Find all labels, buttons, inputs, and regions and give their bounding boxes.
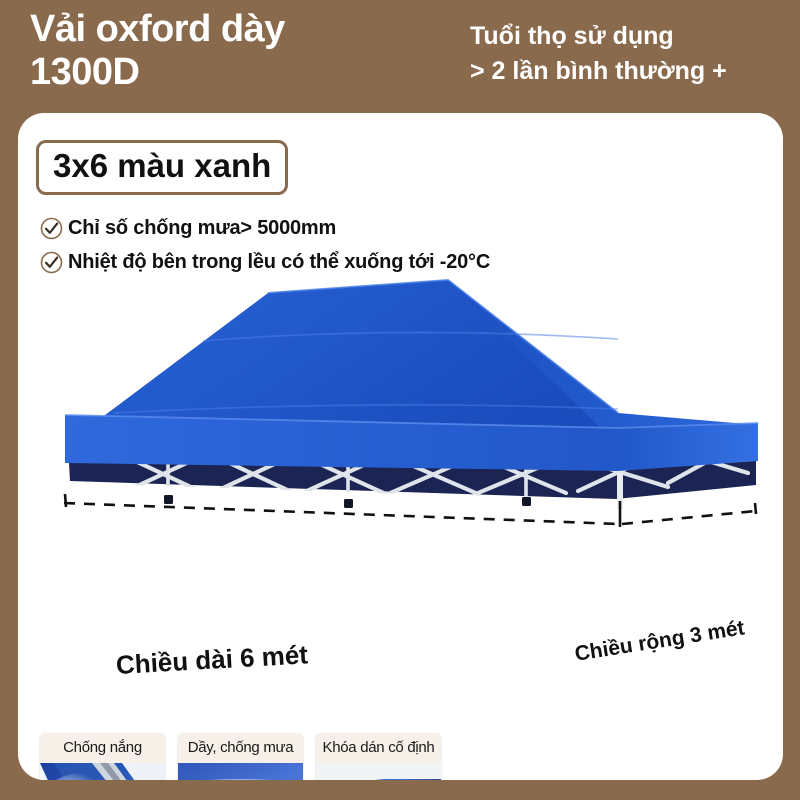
check-circle-icon xyxy=(40,217,63,240)
velcro-fastener-photo xyxy=(316,763,441,780)
check-circle-icon xyxy=(40,251,63,274)
dimension-line-width xyxy=(622,511,756,524)
thumbnail-card[interactable]: Dầy, chống mưa xyxy=(178,733,303,780)
header-subtitle: Tuổi thọ sử dụng > 2 lần bình thường + xyxy=(470,19,727,89)
header-subtitle-line-2: > 2 lần bình thường + xyxy=(470,54,727,89)
thumbnail-label: Dầy, chống mưa xyxy=(178,733,303,763)
product-infographic: Vải oxford dày 1300D Tuổi thọ sử dụng > … xyxy=(0,0,800,800)
header-title-line-2: 1300D xyxy=(30,51,285,94)
dimension-line-length xyxy=(64,503,618,524)
content-panel: 3x6 màu xanh Chỉ số chống mưa> 5000mm xyxy=(18,113,783,780)
thumbnail-card[interactable]: Khóa dán cố định xyxy=(316,733,441,780)
header-title-line-1: Vải oxford dày xyxy=(30,8,285,51)
header-banner: Vải oxford dày 1300D Tuổi thọ sử dụng > … xyxy=(0,0,800,113)
dimension-tick-right xyxy=(755,503,756,514)
header-subtitle-line-1: Tuổi thọ sử dụng xyxy=(470,19,727,54)
header-title: Vải oxford dày 1300D xyxy=(30,8,285,94)
thumbnail-card[interactable]: Chống nắng xyxy=(40,733,165,780)
thumbnail-label: Khóa dán cố định xyxy=(316,733,441,763)
feature-label: Chỉ số chống mưa> 5000mm xyxy=(68,217,336,240)
product-image-canopy-tent xyxy=(18,273,783,533)
thumbnail-strip: Chống nắng xyxy=(40,733,441,780)
size-badge: 3x6 màu xanh xyxy=(36,140,288,195)
dimension-label-length: Chiều dài 6 mét xyxy=(115,639,309,681)
thick-rainproof-fabric-photo xyxy=(178,763,303,780)
sunlight-on-canopy-photo xyxy=(40,763,165,780)
feature-item: Chỉ số chống mưa> 5000mm xyxy=(40,213,490,243)
dimension-label-width: Chiều rộng 3 mét xyxy=(573,616,746,667)
feature-label: Nhiệt độ bên trong lều có thể xuống tới … xyxy=(68,251,490,274)
thumbnail-label: Chống nắng xyxy=(40,733,165,763)
dimension-tick-left xyxy=(65,494,66,507)
feature-list: Chỉ số chống mưa> 5000mm Nhiệt độ bên tr… xyxy=(40,213,490,281)
